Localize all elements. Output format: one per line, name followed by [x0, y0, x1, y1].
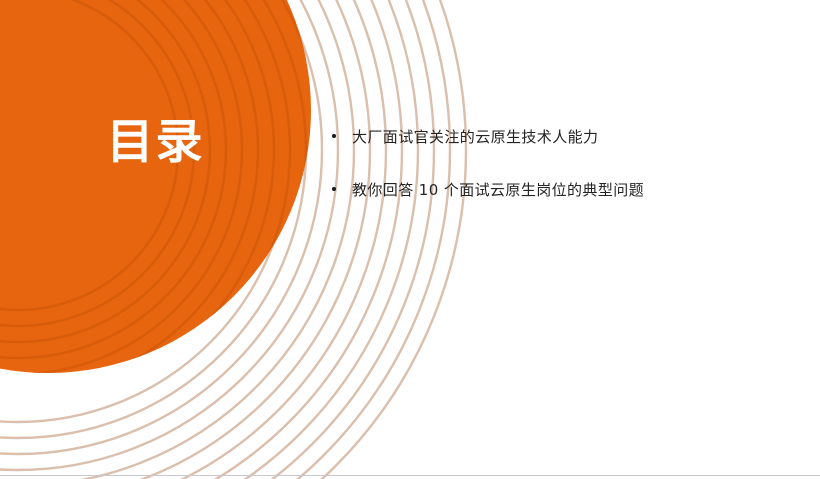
- agenda-list: 大厂面试官关注的云原生技术人能力 教你回答 10 个面试云原生岗位的典型问题: [326, 126, 776, 232]
- list-item[interactable]: 大厂面试官关注的云原生技术人能力: [326, 126, 776, 148]
- orange-circle-shape: [0, 0, 311, 373]
- bullet-point-icon: [326, 179, 352, 191]
- list-item-label: 大厂面试官关注的云原生技术人能力: [352, 126, 776, 148]
- decorative-background: [0, 0, 820, 479]
- list-item[interactable]: 教你回答 10 个面试云原生岗位的典型问题: [326, 179, 776, 201]
- slide-title-block: 目录: [0, 116, 311, 170]
- slide-canvas: 目录 大厂面试官关注的云原生技术人能力 教你回答 10 个面试云原生岗位的典型问…: [0, 0, 820, 479]
- arc-rings-inside: [0, 0, 418, 479]
- bullet-point-icon: [326, 126, 352, 138]
- list-item-label: 教你回答 10 个面试云原生岗位的典型问题: [352, 179, 776, 201]
- arc-rings-outside: [0, 0, 466, 479]
- page-title: 目录: [107, 116, 205, 170]
- bottom-divider: [0, 475, 820, 476]
